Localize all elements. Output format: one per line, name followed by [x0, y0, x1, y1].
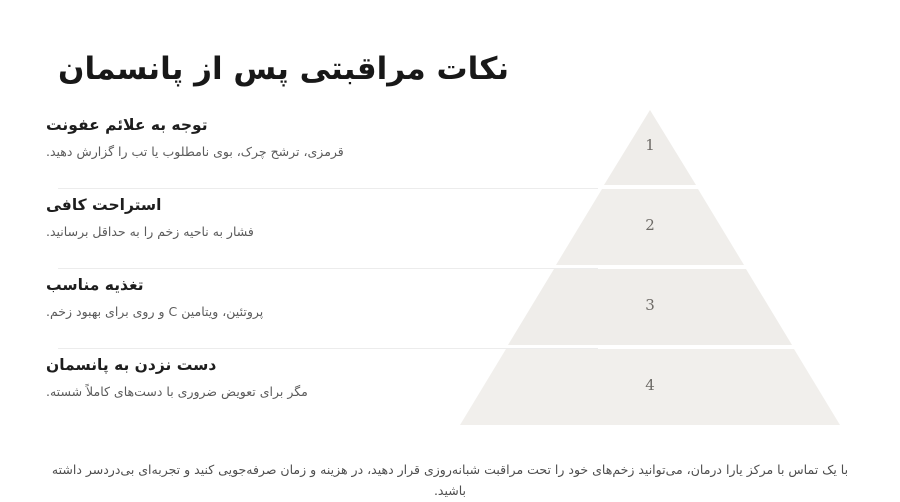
level-number: 3 [645, 296, 655, 314]
level-number-wrap: 4 [0, 376, 900, 394]
level-number-wrap: 3 [0, 296, 900, 314]
row-divider [58, 348, 598, 349]
level-title: توجه به علائم عفونت [46, 114, 450, 137]
list-item: توجه به علائم عفونت قرمزی، ترشح چرک، بوی… [0, 108, 900, 188]
footer-note: با یک تماس با مرکز یارا درمان، می‌توانید… [40, 459, 860, 502]
level-title: دست نزدن به پانسمان [46, 354, 450, 377]
level-number-wrap: 2 [0, 216, 900, 234]
pyramid-infographic-page: نکات مراقبتی پس از پانسمان توجه به علائم… [0, 0, 900, 500]
level-number: 2 [645, 216, 655, 234]
level-title: استراحت کافی [46, 194, 450, 217]
row-divider [58, 268, 598, 269]
level-number: 4 [645, 376, 655, 394]
pyramid-levels-list: توجه به علائم عفونت قرمزی، ترشح چرک، بوی… [0, 108, 900, 428]
list-item: استراحت کافی فشار به ناحیه زخم را به حدا… [0, 188, 900, 268]
row-divider [58, 188, 598, 189]
list-item: دست نزدن به پانسمان مگر برای تعویض ضروری… [0, 348, 900, 428]
level-number-wrap: 1 [0, 136, 900, 154]
level-number: 1 [645, 136, 655, 154]
level-title: تغذیه مناسب [46, 274, 450, 297]
list-item: تغذیه مناسب پروتئین، ویتامین C و روی برا… [0, 268, 900, 348]
page-title: نکات مراقبتی پس از پانسمان [40, 49, 860, 91]
